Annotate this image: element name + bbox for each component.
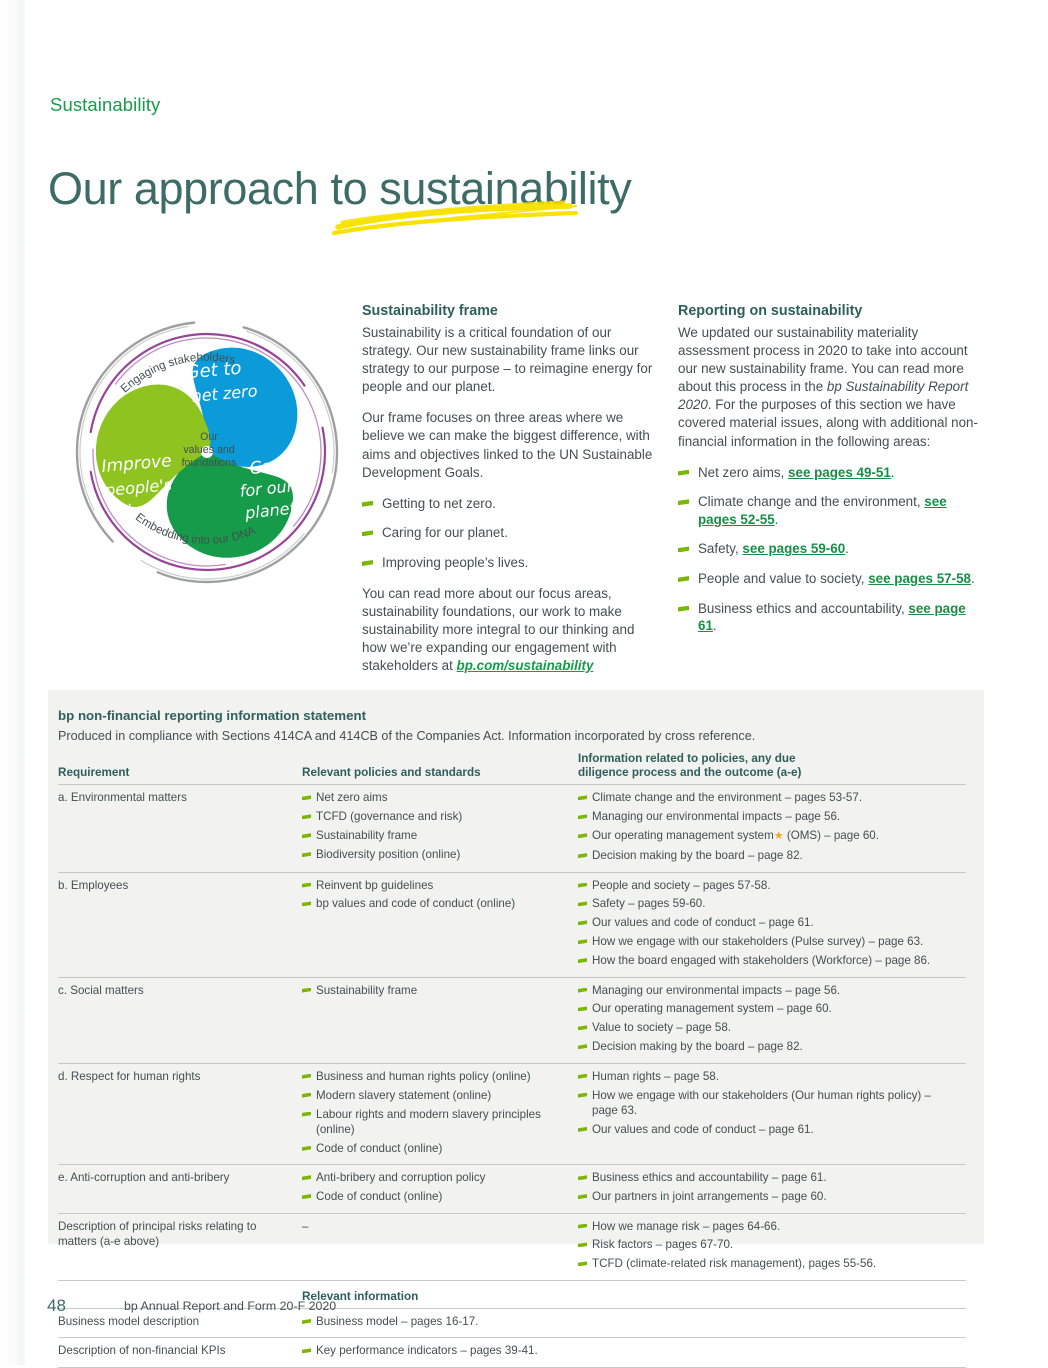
flag-bullet-icon [678, 606, 689, 612]
flag-bullet-icon [302, 901, 311, 906]
frame-bullet-label: Getting to net zero. [382, 496, 496, 511]
list-item: Climate change and the environment – pag… [578, 790, 958, 805]
list-item: How the board engaged with stakeholders … [578, 953, 958, 968]
list-item: Our partners in joint arrangements – pag… [578, 1189, 958, 1204]
flag-bullet-icon [578, 1006, 587, 1011]
row-outcomes: How we manage risk – pages 64-66. Risk f… [578, 1213, 966, 1280]
flag-bullet-icon [302, 883, 311, 888]
flag-bullet-icon [302, 1146, 311, 1151]
row-outcomes: People and society – pages 57-58. Safety… [578, 872, 966, 977]
section-eyebrow: Sustainability [50, 94, 160, 116]
column-header-requirement: Requirement [58, 752, 302, 785]
flag-bullet-icon [578, 853, 587, 858]
flag-bullet-icon [578, 1074, 587, 1079]
list-item: Modern slavery statement (online) [302, 1088, 570, 1103]
flag-bullet-icon [578, 883, 587, 888]
flag-bullet-icon [578, 901, 587, 906]
reporting-bullet-label: Business ethics and accountability, [698, 601, 908, 616]
row-policies: Sustainability frame [302, 977, 578, 1063]
list-item: Anti-bribery and corruption policy [302, 1170, 570, 1185]
page-reference-link[interactable]: see pages 49-51 [788, 465, 891, 480]
star-icon: ★ [774, 830, 784, 842]
list-item: Our operating management system – page 6… [578, 1001, 958, 1016]
flag-bullet-icon [678, 576, 689, 582]
row-outcomes: Business ethics and accountability – pag… [578, 1165, 966, 1213]
diagram-center-line2: values and [183, 444, 234, 456]
reporting-bullet-label: Safety, [698, 541, 742, 556]
reporting-bullet-tail: . [891, 465, 895, 480]
table-row: Description of principal risks relating … [58, 1213, 966, 1280]
row-outcomes-empty [578, 1338, 966, 1367]
flag-bullet-icon [302, 1319, 311, 1324]
page-number: 48 [47, 1296, 66, 1316]
nfr-panel-subtitle: Produced in compliance with Sections 414… [58, 729, 755, 743]
table-row: b. Employees Reinvent bp guidelines bp v… [58, 872, 966, 977]
list-item: Net zero aims, see pages 49-51. [678, 464, 983, 482]
diagram-center-line3: foundations [182, 457, 237, 469]
sustainability-frame-column: Sustainability frame Sustainability is a… [362, 303, 662, 675]
row-policies: Reinvent bp guidelines bp values and cod… [302, 872, 578, 977]
column-header-outcome: Information related to policies, any due… [578, 752, 966, 785]
list-item: Business ethics and accountability – pag… [578, 1170, 958, 1185]
row-policies: Net zero aims TCFD (governance and risk)… [302, 785, 578, 872]
reporting-bullet-label: Climate change and the environment, [698, 494, 924, 509]
list-item: People and value to society, see pages 5… [678, 570, 983, 588]
list-item: Human rights – page 58. [578, 1069, 958, 1084]
flag-bullet-icon [302, 795, 311, 800]
nfr-table: Requirement Relevant policies and standa… [58, 752, 966, 1368]
list-item: Safety, see pages 59-60. [678, 540, 983, 558]
flag-bullet-icon [578, 1175, 587, 1180]
frame-bullet-list: Getting to net zero. Caring for our plan… [362, 495, 662, 572]
reporting-on-sustainability-column: Reporting on sustainability We updated o… [678, 303, 983, 648]
table-row: d. Respect for human rights Business and… [58, 1063, 966, 1165]
reporting-bullet-tail: . [775, 512, 779, 527]
row-requirement: e. Anti-corruption and anti-bribery [58, 1165, 302, 1213]
flag-bullet-icon [302, 814, 311, 819]
nfr-panel-title: bp non-financial reporting information s… [58, 708, 366, 723]
flag-bullet-icon [302, 852, 311, 857]
row-policies: Anti-bribery and corruption policy Code … [302, 1165, 578, 1213]
reporting-bullet-list: Net zero aims, see pages 49-51. Climate … [678, 464, 983, 635]
flag-bullet-icon [578, 1127, 587, 1132]
list-item: Business ethics and accountability, see … [678, 600, 983, 635]
row-outcomes: Climate change and the environment – pag… [578, 785, 966, 872]
flag-bullet-icon [362, 501, 373, 507]
flag-bullet-icon [302, 1112, 311, 1117]
frame-paragraph-2: Our frame focuses on three areas where w… [362, 409, 662, 481]
flag-bullet-icon [302, 1348, 311, 1353]
column-header-outcome-line2: diligence process and the outcome (a-e) [578, 766, 801, 779]
list-item: Managing our environmental impacts – pag… [578, 983, 958, 998]
list-item: Risk factors – pages 67-70. [578, 1237, 958, 1252]
frame-heading: Sustainability frame [362, 303, 662, 319]
list-item: Code of conduct (online) [302, 1189, 570, 1204]
flag-bullet-icon [578, 1025, 587, 1030]
list-item: bp values and code of conduct (online) [302, 896, 570, 911]
list-item: Decision making by the board – page 82. [578, 848, 958, 863]
list-item: Our operating management system★ (OMS) –… [578, 828, 958, 844]
frame-paragraph-1: Sustainability is a critical foundation … [362, 324, 662, 396]
flag-bullet-icon [578, 939, 587, 944]
reporting-heading: Reporting on sustainability [678, 303, 983, 319]
table-row: Description of non-financial KPIs Key pe… [58, 1338, 966, 1367]
flag-bullet-icon [578, 833, 587, 838]
flag-bullet-icon [578, 1261, 587, 1266]
list-item: Key performance indicators – pages 39-41… [302, 1343, 570, 1358]
flag-bullet-icon [578, 988, 587, 993]
footer-label: bp Annual Report and Form 20-F 2020 [124, 1299, 336, 1313]
list-item: Improving people’s lives. [362, 554, 662, 572]
flag-bullet-icon [302, 1194, 311, 1199]
flag-bullet-icon [578, 958, 587, 963]
list-item: Net zero aims [302, 790, 570, 805]
column-header-policies: Relevant policies and standards [302, 752, 578, 785]
row-policies-dash: – [302, 1213, 578, 1280]
reporting-bullet-label: Net zero aims, [698, 465, 788, 480]
row-requirement: c. Social matters [58, 977, 302, 1063]
list-item: Labour rights and modern slavery princip… [302, 1107, 570, 1138]
list-item: Sustainability frame [302, 828, 570, 843]
row-outcomes: Human rights – page 58. How we engage wi… [578, 1063, 966, 1165]
page-reference-link[interactable]: see pages 57-58 [868, 571, 971, 586]
list-item: Safety – pages 59-60. [578, 896, 958, 911]
column-header-outcome-line1: Information related to policies, any due [578, 752, 796, 765]
list-item: How we engage with our stakeholders (Pul… [578, 934, 958, 949]
list-item: Biodiversity position (online) [302, 847, 570, 862]
row-outcomes-empty [578, 1308, 966, 1337]
row-policies: Key performance indicators – pages 39-41… [302, 1338, 578, 1367]
page-reference-link[interactable]: see pages 59-60 [742, 541, 845, 556]
list-item: Decision making by the board – page 82. [578, 1039, 958, 1054]
list-item: Getting to net zero. [362, 495, 662, 513]
flag-bullet-icon [578, 1224, 587, 1229]
flag-bullet-icon [578, 1093, 587, 1098]
list-item: Managing our environmental impacts – pag… [578, 809, 958, 824]
svg-text:planet: planet [243, 498, 297, 522]
list-item: Climate change and the environment, see … [678, 493, 983, 528]
flag-bullet-icon [302, 1093, 311, 1098]
list-item: How we engage with our stakeholders (Our… [578, 1088, 958, 1119]
table-row: c. Social matters Sustainability frame M… [58, 977, 966, 1063]
list-item: How we manage risk – pages 64-66. [578, 1219, 958, 1234]
flag-bullet-icon [302, 1175, 311, 1180]
list-item: Our values and code of conduct – page 61… [578, 1122, 958, 1137]
row-policies: Business model – pages 16-17. [302, 1308, 578, 1337]
subheader-blank [578, 1280, 966, 1308]
page-edge-shadow [0, 0, 26, 1365]
list-item: Sustainability frame [302, 983, 570, 998]
row-requirement: d. Respect for human rights [58, 1063, 302, 1165]
row-requirement: b. Employees [58, 872, 302, 977]
list-item: Our values and code of conduct – page 61… [578, 915, 958, 930]
flag-bullet-icon [302, 833, 311, 838]
row-outcomes: Managing our environmental impacts – pag… [578, 977, 966, 1063]
list-item: TCFD (governance and risk) [302, 809, 570, 824]
row-requirement: Description of non-financial KPIs [58, 1338, 302, 1367]
reporting-bullet-label: People and value to society, [698, 571, 868, 586]
reporting-bullet-tail: . [971, 571, 975, 586]
bp-sustainability-link[interactable]: bp.com/sustainability [457, 658, 594, 673]
diagram-center-line1: Our [200, 431, 218, 443]
frame-bullet-label: Improving people’s lives. [382, 555, 528, 570]
table-row: a. Environmental matters Net zero aims T… [58, 785, 966, 872]
list-item: Code of conduct (online) [302, 1141, 570, 1156]
reporting-paragraph-1: We updated our sustainability materialit… [678, 324, 983, 451]
flag-bullet-icon [362, 530, 373, 536]
flag-bullet-icon [578, 1242, 587, 1247]
reporting-bullet-tail: . [845, 541, 849, 556]
frame-bullet-label: Caring for our planet. [382, 525, 508, 540]
flag-bullet-icon [362, 560, 373, 566]
flag-bullet-icon [302, 988, 311, 993]
list-item: Business and human rights policy (online… [302, 1069, 570, 1084]
list-item: Reinvent bp guidelines [302, 878, 570, 893]
flag-bullet-icon [302, 1074, 311, 1079]
flag-bullet-icon [578, 814, 587, 819]
flag-bullet-icon [578, 920, 587, 925]
reporting-bullet-tail: . [713, 618, 717, 633]
reporting-p1-part-b: . For the purposes of this section we ha… [678, 397, 978, 448]
flag-bullet-icon [678, 470, 689, 476]
row-requirement: a. Environmental matters [58, 785, 302, 872]
table-row: e. Anti-corruption and anti-bribery Anti… [58, 1165, 966, 1213]
list-item: Caring for our planet. [362, 524, 662, 542]
svg-text:Care: Care [249, 455, 291, 479]
flag-bullet-icon [578, 1194, 587, 1199]
table-header-row: Requirement Relevant policies and standa… [58, 752, 966, 785]
flag-bullet-icon [578, 795, 587, 800]
row-policies: Business and human rights policy (online… [302, 1063, 578, 1165]
frame-paragraph-3: You can read more about our focus areas,… [362, 585, 662, 675]
list-item: Business model – pages 16-17. [302, 1314, 570, 1329]
flag-bullet-icon [578, 1044, 587, 1049]
sustainability-frame-diagram: Get to net zero Care for our planet Impr… [62, 304, 352, 589]
list-item: Value to society – page 58. [578, 1020, 958, 1035]
row-requirement: Description of principal risks relating … [58, 1213, 302, 1280]
title-underline-swoosh [332, 200, 582, 240]
flag-bullet-icon [678, 499, 689, 505]
list-item: TCFD (climate-related risk management), … [578, 1256, 958, 1271]
subheader-relevant-information: Relevant information [302, 1280, 578, 1308]
flag-bullet-icon [678, 546, 689, 552]
list-item: People and society – pages 57-58. [578, 878, 958, 893]
